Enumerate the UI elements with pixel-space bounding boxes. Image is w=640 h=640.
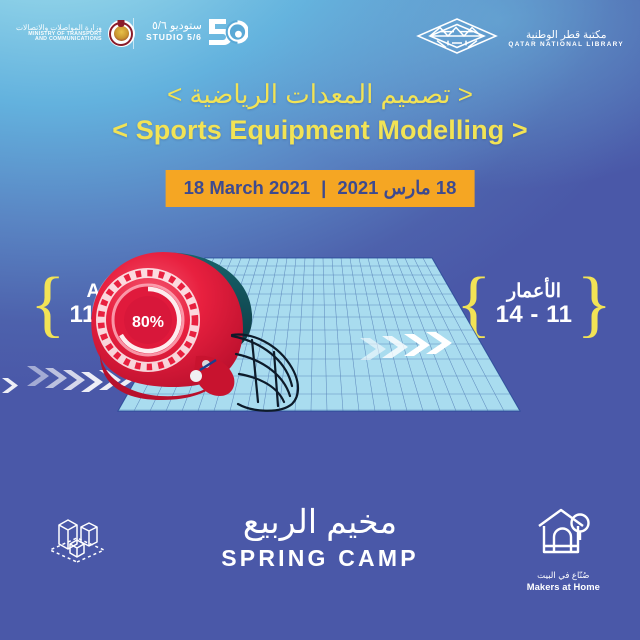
logo-studio-5-6: ستوديو ٥/٦ STUDIO 5/6 (146, 17, 248, 47)
poster-canvas: وزارة المواصلات والاتصالات MINISTRY OF T… (0, 0, 640, 640)
date-english: 18 March 2021 (184, 177, 311, 199)
qnl-diamond-icon (415, 16, 499, 61)
qnl-text-block: مكتبة قطر الوطنية QATAR NATIONAL LIBRARY (508, 29, 624, 48)
header-divider (133, 18, 134, 49)
logo-makers-at-home: صُنّاع في البيت Makers at Home (527, 506, 600, 592)
date-badge: 18 March 2021 | 18 مارس 2021 (166, 170, 475, 207)
qnl-english-name: QATAR NATIONAL LIBRARY (508, 41, 624, 48)
progress-gauge: 80% (101, 273, 195, 367)
header-logo-bar: وزارة المواصلات والاتصالات MINISTRY OF T… (0, 0, 640, 68)
qatar-state-emblem-icon (108, 20, 135, 47)
studio-english-name: STUDIO 5/6 (146, 33, 202, 42)
ministry-text-block: وزارة المواصلات والاتصالات MINISTRY OF T… (16, 24, 102, 43)
title-block: < تصميم المعدات الرياضية > < Sports Equi… (0, 78, 640, 148)
studio-text-block: ستوديو ٥/٦ STUDIO 5/6 (146, 21, 202, 42)
isometric-3d-model-icon (44, 512, 110, 579)
house-maker-icon (527, 506, 600, 567)
logo-ministry-of-transport: وزارة المواصلات والاتصالات MINISTRY OF T… (16, 20, 135, 47)
date-separator: | (321, 177, 326, 199)
makers-arabic-name: صُنّاع في البيت (527, 570, 600, 581)
studio-monogram-icon (207, 17, 248, 47)
emblem-center (114, 26, 129, 41)
helmet-3d-scene: 80% (0, 236, 640, 436)
ministry-english-line2: AND COMMUNICATIONS (16, 37, 102, 43)
makers-english-name: Makers at Home (527, 581, 600, 592)
progress-gauge-label: 80% (132, 314, 164, 331)
emblem-band (118, 20, 125, 27)
logo-qatar-national-library: مكتبة قطر الوطنية QATAR NATIONAL LIBRARY (415, 16, 624, 61)
title-english: < Sports Equipment Modelling > (0, 113, 640, 148)
date-arabic: 18 مارس 2021 (337, 177, 456, 199)
title-arabic: < تصميم المعدات الرياضية > (0, 78, 640, 111)
qnl-arabic-name: مكتبة قطر الوطنية (508, 29, 624, 41)
scene-svg: 80% (0, 236, 640, 436)
